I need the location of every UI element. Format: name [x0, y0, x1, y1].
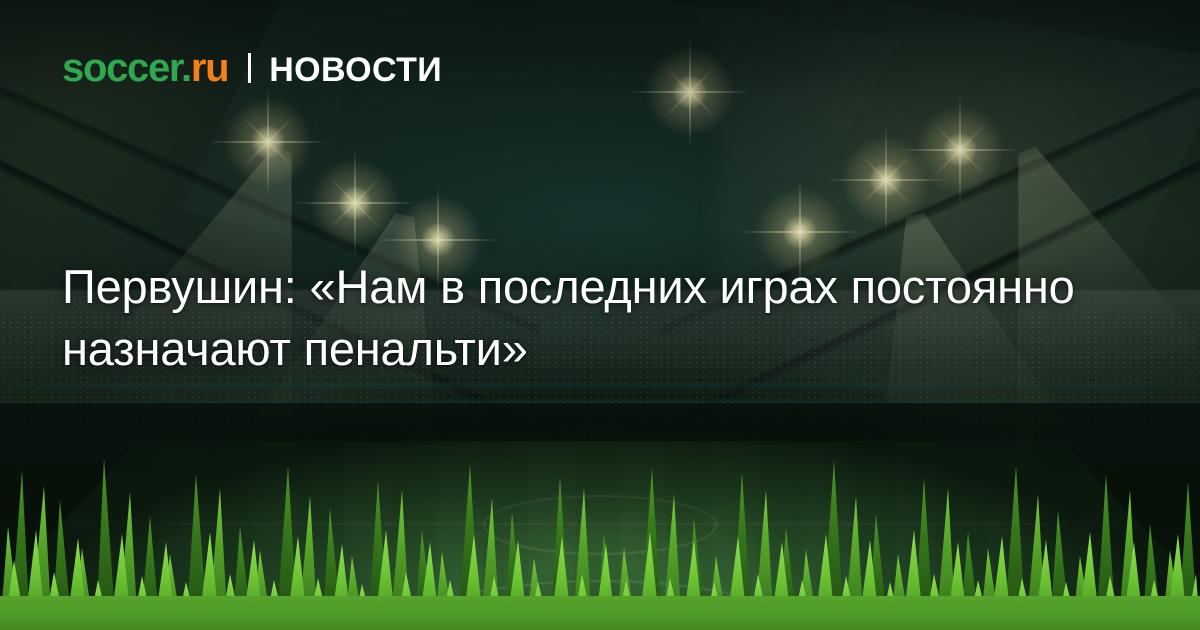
logo-dot: .: [181, 46, 191, 90]
brand-bar[interactable]: soccer.ru НОВОСТИ: [62, 48, 442, 88]
brand-divider: [248, 53, 251, 83]
section-label[interactable]: НОВОСТИ: [269, 53, 442, 87]
site-logo[interactable]: soccer.ru: [62, 48, 228, 88]
logo-text-suffix: ru: [191, 46, 228, 90]
news-share-card: soccer.ru НОВОСТИ Первушин: «Нам в после…: [0, 0, 1200, 630]
headline: Первушин: «Нам в последних играх постоян…: [62, 256, 1102, 380]
logo-text-primary: soccer: [62, 46, 181, 90]
